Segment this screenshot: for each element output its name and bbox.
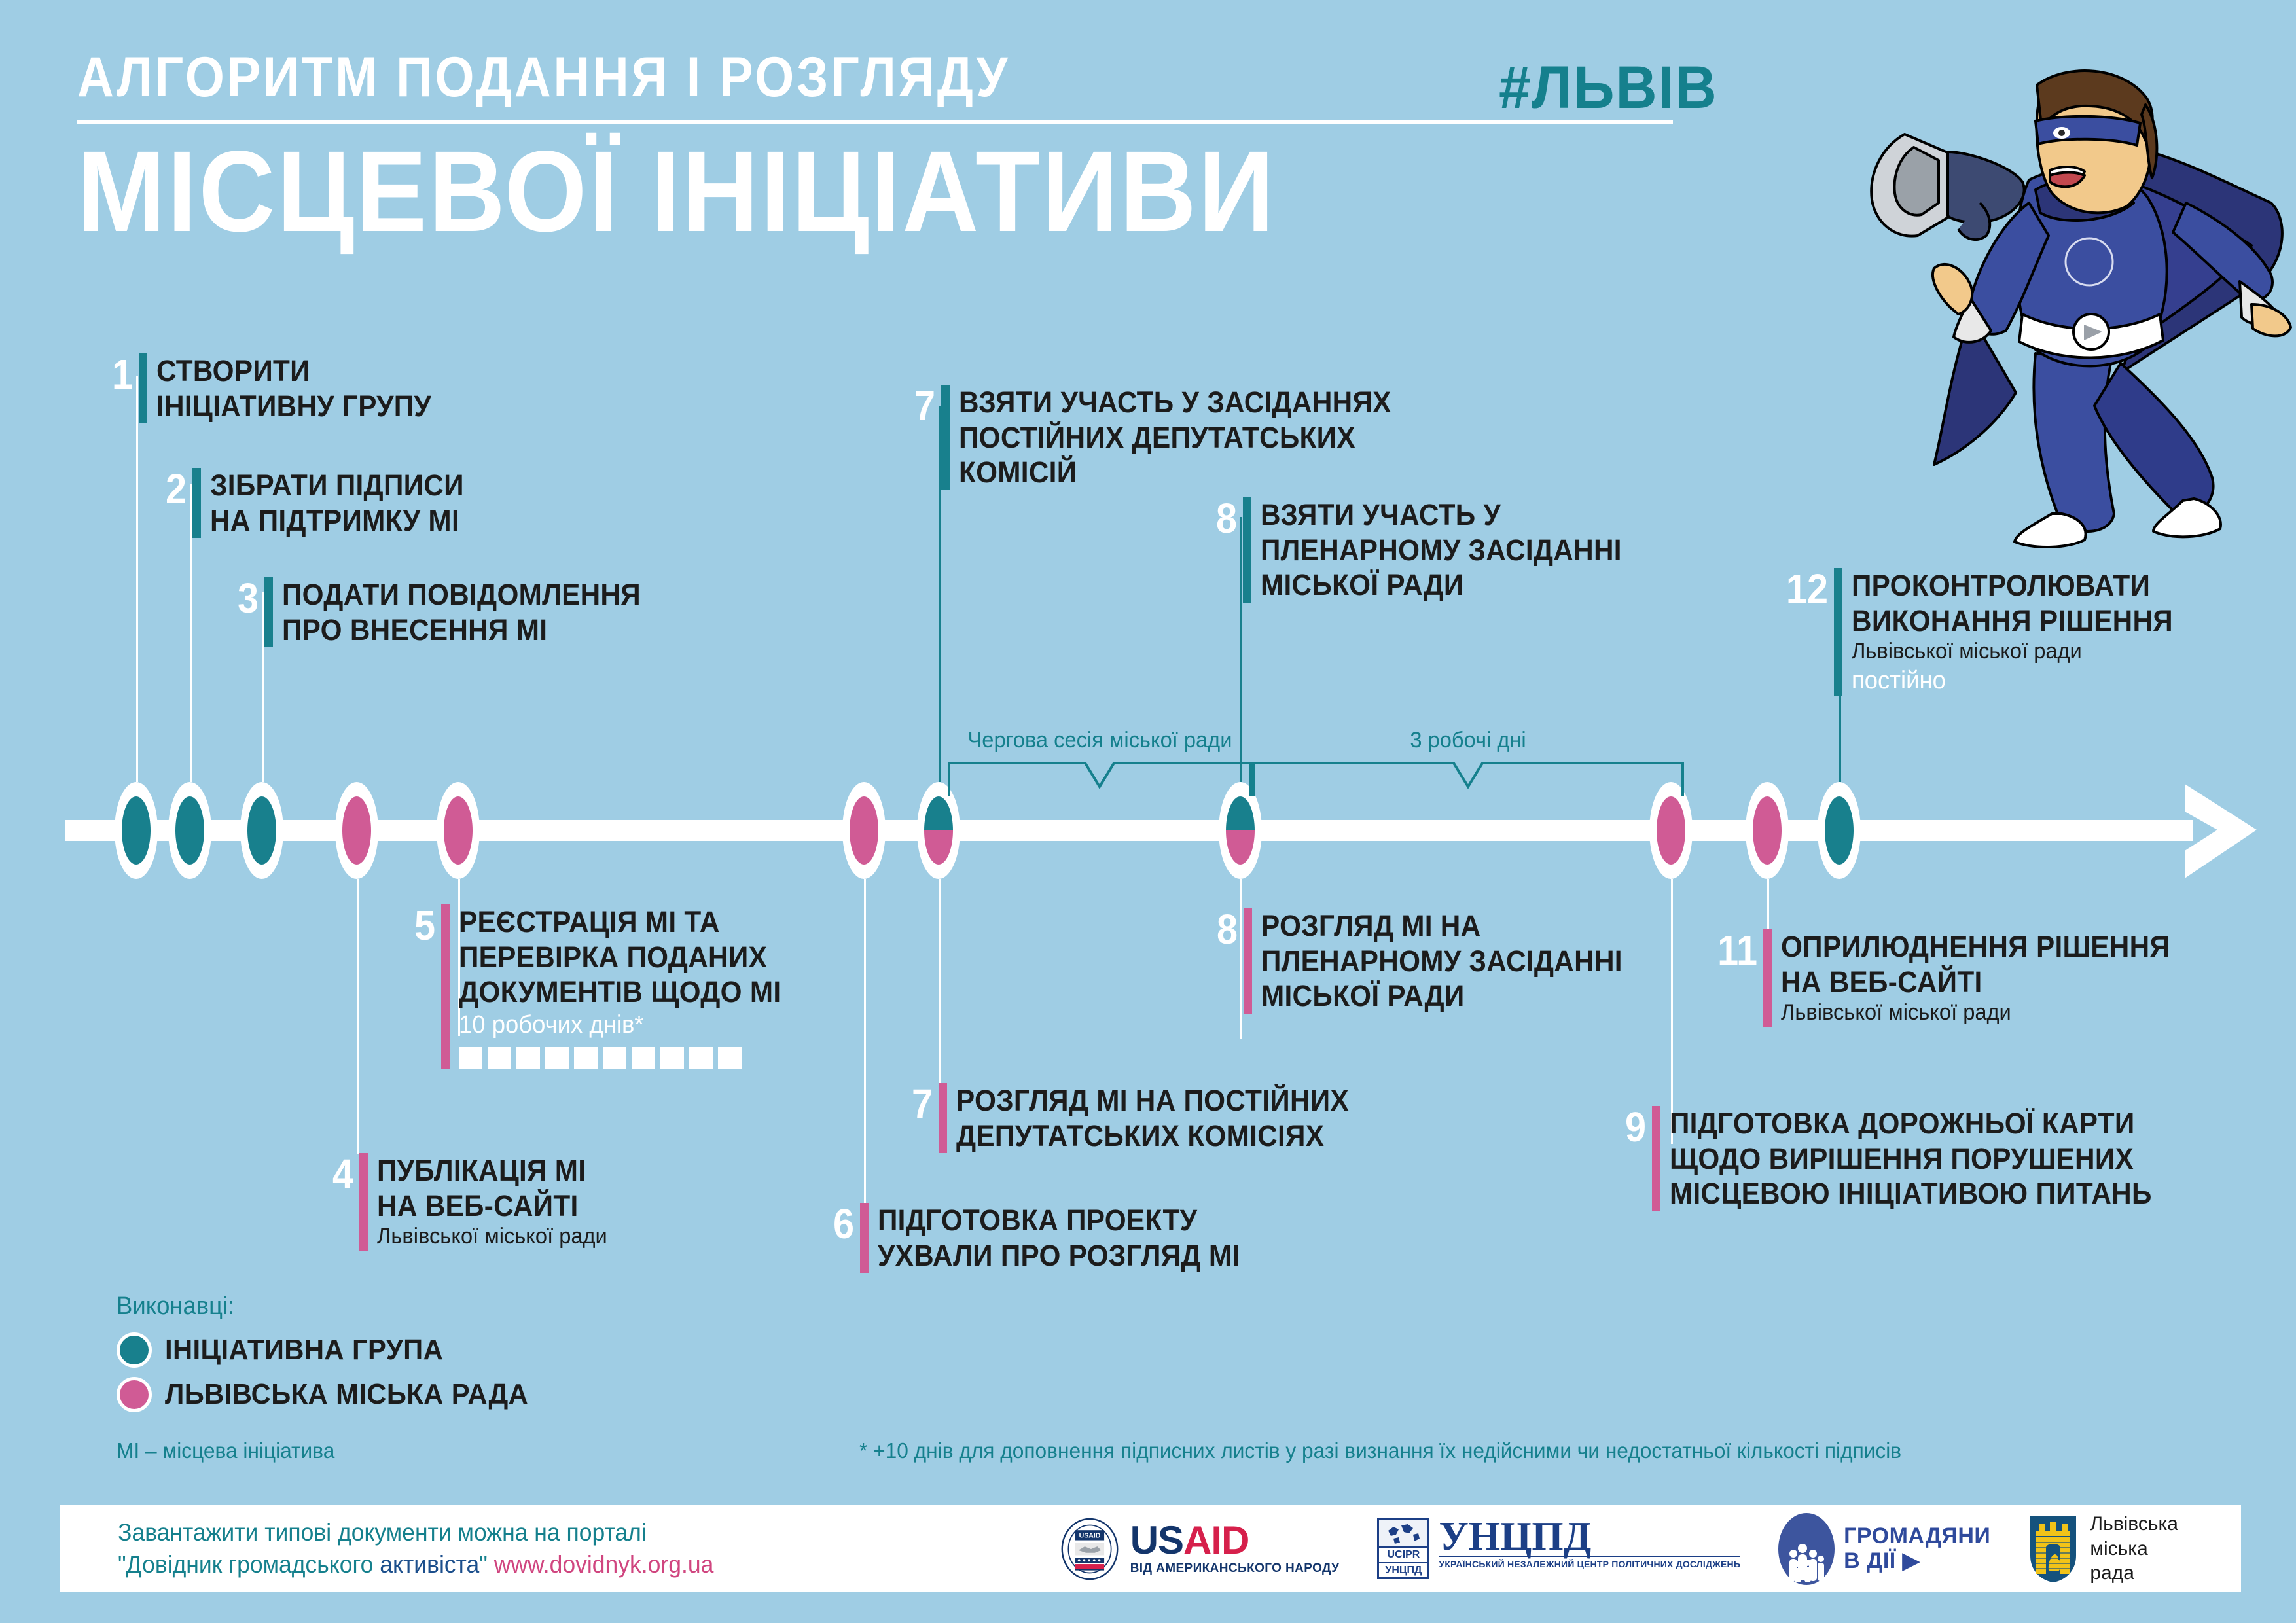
logo-usaid: USAID USAID ВІД АМЕРИКАНСЬКОГО НАРО xyxy=(1058,1518,1340,1580)
day-box xyxy=(718,1047,742,1069)
step-11: 11 ОПРИЛЮДНЕННЯ РІШЕННЯ НА ВЕБ-САЙТІ Льв… xyxy=(1696,929,2195,1027)
timeline-node-8[interactable] xyxy=(1219,782,1262,879)
step-5-line-2: ПЕРЕВІРКА ПОДАНИХ xyxy=(459,940,781,975)
header: АЛГОРИТМ ПОДАННЯ І РОЗГЛЯДУ МІСЦЕВОЇ ІНІ… xyxy=(77,49,1694,251)
step-6-accent-bar xyxy=(860,1203,869,1273)
legend-caption: Виконавці: xyxy=(117,1293,530,1321)
connector-1 xyxy=(136,376,138,782)
step-7-council: 7 РОЗГЛЯД МІ НА ПОСТІЙНИХ ДЕПУТАТСЬКИХ К… xyxy=(898,1083,1374,1153)
uncpd-abbr-ua: УНЦПД xyxy=(1379,1562,1427,1578)
timeline-node-7[interactable] xyxy=(917,782,960,879)
step-1-number: 1 xyxy=(102,353,139,423)
step-5-line-1: РЕЄСТРАЦІЯ МІ ТА xyxy=(459,904,781,940)
step-8b-number: 8 xyxy=(1207,908,1244,1014)
step-4-text: ПУБЛІКАЦІЯ МІ НА ВЕБ-САЙТІ Львівської мі… xyxy=(377,1153,617,1251)
step-7a-accent-bar xyxy=(941,385,950,490)
citizens-line-2: В ДІЇ ▶ xyxy=(1844,1549,1990,1573)
step-11-subtitle: Львівської міської ради xyxy=(1781,999,2178,1026)
usaid-word-us: US xyxy=(1130,1518,1183,1562)
uncpd-mark-icon: UCIPR УНЦПД xyxy=(1377,1518,1429,1579)
connector-6 xyxy=(864,879,866,1209)
step-2: 2 ЗІБРАТИ ПІДПИСИ НА ПІДТРИМКУ МІ xyxy=(152,468,480,538)
legend-item-initiative-group: ІНІЦІАТИВНА ГРУПА xyxy=(117,1332,547,1368)
footer-bar: Завантажити типові документи можна на по… xyxy=(60,1505,2241,1592)
step-4: 4 ПУБЛІКАЦІЯ МІ НА ВЕБ-САЙТІ Львівської … xyxy=(319,1153,617,1251)
footer-handbook-accent: активіста xyxy=(373,1551,479,1578)
lviv-council-line-3: рада xyxy=(2090,1561,2178,1586)
step-7b-number: 7 xyxy=(902,1083,939,1153)
step-4-line-1: ПУБЛІКАЦІЯ МІ xyxy=(377,1153,602,1188)
step-8a-line-3: МІСЬКОЇ РАДИ xyxy=(1261,567,1622,603)
step-7-initiative: 7 ВЗЯТИ УЧАСТЬ У ЗАСІДАННЯХ ПОСТІЙНИХ ДЕ… xyxy=(901,385,1419,490)
day-box xyxy=(516,1047,540,1069)
footer-quote-close: " xyxy=(479,1551,493,1578)
infographic-canvas: АЛГОРИТМ ПОДАННЯ І РОЗГЛЯДУ МІСЦЕВОЇ ІНІ… xyxy=(0,0,2296,1623)
legend-dot-teal-icon xyxy=(117,1332,152,1368)
citizens-crowd-icon xyxy=(1778,1513,1835,1585)
legend-item-city-council: ЛЬВІВСЬКА МІСЬКА РАДА xyxy=(117,1377,547,1412)
step-6-line-1: ПІДГОТОВКА ПРОЕКТУ xyxy=(878,1203,1240,1238)
step-7b-text: РОЗГЛЯД МІ НА ПОСТІЙНИХ ДЕПУТАТСЬКИХ КОМ… xyxy=(956,1083,1374,1153)
step-12-accent-bar xyxy=(1834,568,1842,696)
step-7b-line-1: РОЗГЛЯД МІ НА ПОСТІЙНИХ xyxy=(956,1083,1349,1118)
step-3-line-2: ПРО ВНЕСЕННЯ МІ xyxy=(282,613,641,648)
day-box xyxy=(574,1047,598,1069)
legend-label-initiative-group: ІНІЦІАТИВНА ГРУПА xyxy=(165,1334,443,1366)
footer-url-link[interactable]: www.dovidnyk.org.ua xyxy=(494,1551,714,1578)
step-3-text: ПОДАТИ ПОВІДОМЛЕННЯ ПРО ВНЕСЕННЯ МІ xyxy=(282,577,664,647)
step-7a-line-2: ПОСТІЙНИХ ДЕПУТАТСЬКИХ xyxy=(959,420,1391,455)
step-8b-line-1: РОЗГЛЯД МІ НА xyxy=(1261,908,1623,944)
legend-label-city-council: ЛЬВІВСЬКА МІСЬКА РАДА xyxy=(165,1378,528,1411)
step-2-number: 2 xyxy=(156,468,192,538)
usaid-wordmark: USAID ВІД АМЕРИКАНСЬКОГО НАРОДУ xyxy=(1130,1522,1340,1577)
lviv-council-wordmark: Львівська міська рада xyxy=(2090,1512,2178,1586)
lviv-council-line-2: міська xyxy=(2090,1537,2178,1561)
step-6-number: 6 xyxy=(823,1203,860,1273)
step-12-subtitle: Львівської міської ради xyxy=(1852,638,2179,665)
footer-text: Завантажити типові документи можна на по… xyxy=(118,1517,738,1581)
day-box xyxy=(603,1047,626,1069)
step-8b-text: РОЗГЛЯД МІ НА ПЛЕНАРНОМУ ЗАСІДАННІ МІСЬК… xyxy=(1261,908,1645,1014)
step-5-text: РЕЄСТРАЦІЯ МІ ТА ПЕРЕВІРКА ПОДАНИХ ДОКУМ… xyxy=(459,904,802,1069)
step-5-accent-bar xyxy=(441,904,450,1069)
step-5-duration-boxes xyxy=(459,1047,802,1069)
legend-dot-pink-icon xyxy=(117,1377,152,1412)
step-2-line-1: ЗІБРАТИ ПІДПИСИ xyxy=(210,468,464,503)
timeline-node-4[interactable] xyxy=(335,782,378,879)
timeline-node-2[interactable] xyxy=(168,782,211,879)
step-7a-number: 7 xyxy=(905,385,941,490)
step-4-number: 4 xyxy=(323,1153,359,1251)
step-1-line-1: СТВОРИТИ xyxy=(156,353,431,389)
legend: Виконавці: ІНІЦІАТИВНА ГРУПА ЛЬВІВСЬКА М… xyxy=(117,1293,547,1421)
step-12: 12 ПРОКОНТРОЛЮВАТИ ВИКОНАННЯ РІШЕННЯ Льв… xyxy=(1767,568,2193,696)
step-12-text: ПРОКОНТРОЛЮВАТИ ВИКОНАННЯ РІШЕННЯ Львівс… xyxy=(1852,568,2193,696)
logo-citizens-in-action: ГРОМАДЯНИ В ДІЇ ▶ xyxy=(1778,1513,1990,1585)
hashtag-lviv: #ЛЬВІВ xyxy=(1499,54,1718,122)
step-8-initiative: 8 ВЗЯТИ УЧАСТЬ У ПЛЕНАРНОМУ ЗАСІДАННІ МІ… xyxy=(1202,497,1645,603)
step-8a-text: ВЗЯТИ УЧАСТЬ У ПЛЕНАРНОМУ ЗАСІДАННІ МІСЬ… xyxy=(1261,497,1645,603)
timeline-arrow-icon xyxy=(2179,779,2265,883)
step-8a-accent-bar xyxy=(1243,497,1251,603)
step-7a-text: ВЗЯТИ УЧАСТЬ У ЗАСІДАННЯХ ПОСТІЙНИХ ДЕПУ… xyxy=(959,385,1419,490)
timeline-axis xyxy=(65,820,2193,841)
step-4-subtitle: Львівської міської ради xyxy=(377,1223,607,1250)
timeline-node-11[interactable] xyxy=(1746,782,1789,879)
step-6-line-2: УХВАЛИ ПРО РОЗГЛЯД МІ xyxy=(878,1238,1240,1274)
step-7b-line-2: ДЕПУТАТСЬКИХ КОМІСІЯХ xyxy=(956,1118,1349,1154)
day-box xyxy=(488,1047,511,1069)
usaid-word: USAID xyxy=(1130,1522,1340,1560)
step-7a-line-1: ВЗЯТИ УЧАСТЬ У ЗАСІДАННЯХ xyxy=(959,385,1391,420)
step-8a-line-1: ВЗЯТИ УЧАСТЬ У xyxy=(1261,497,1622,533)
step-3-line-1: ПОДАТИ ПОВІДОМЛЕННЯ xyxy=(282,577,641,613)
step-5-number: 5 xyxy=(404,904,441,1069)
step-9-text: ПІДГОТОВКА ДОРОЖНЬОЇ КАРТИ ЩОДО ВИРІШЕНН… xyxy=(1670,1106,2183,1211)
step-2-accent-bar xyxy=(192,468,201,538)
step-9: 9 ПІДГОТОВКА ДОРОЖНЬОЇ КАРТИ ЩОДО ВИРІШЕ… xyxy=(1611,1106,2183,1211)
step-1-line-2: ІНІЦІАТИВНУ ГРУПУ xyxy=(156,389,431,424)
step-1-accent-bar xyxy=(139,353,147,423)
lviv-coat-of-arms-icon xyxy=(2028,1514,2078,1584)
step-6: 6 ПІДГОТОВКА ПРОЕКТУ УХВАЛИ ПРО РОЗГЛЯД … xyxy=(819,1203,1263,1273)
step-7b-accent-bar xyxy=(939,1083,947,1153)
step-11-number: 11 xyxy=(1703,929,1763,1027)
connector-4 xyxy=(357,879,359,1154)
step-11-text: ОПРИЛЮДНЕННЯ РІШЕННЯ НА ВЕБ-САЙТІ Львівс… xyxy=(1781,929,2195,1027)
step-8a-line-2: ПЛЕНАРНОМУ ЗАСІДАННІ xyxy=(1261,533,1622,568)
step-12-line-2: ВИКОНАННЯ РІШЕННЯ xyxy=(1852,603,2173,639)
step-3-number: 3 xyxy=(228,577,264,647)
step-1-text: СТВОРИТИ ІНІЦІАТИВНУ ГРУПУ xyxy=(156,353,449,423)
step-2-text: ЗІБРАТИ ПІДПИСИ НА ПІДТРИМКУ МІ xyxy=(210,468,480,538)
superhero-mascot-icon xyxy=(1754,7,2296,550)
day-box xyxy=(632,1047,655,1069)
step-11-accent-bar xyxy=(1763,929,1772,1027)
step-4-line-2: НА ВЕБ-САЙТІ xyxy=(377,1188,602,1224)
citizens-line-1: ГРОМАДЯНИ xyxy=(1844,1524,1990,1548)
usaid-word-aid: AID xyxy=(1183,1518,1249,1562)
step-8b-line-2: ПЛЕНАРНОМУ ЗАСІДАННІ xyxy=(1261,944,1623,979)
step-9-line-2: ЩОДО ВИРІШЕННЯ ПОРУШЕНИХ xyxy=(1670,1141,2152,1177)
title-divider xyxy=(77,120,1673,124)
step-12-line-1: ПРОКОНТРОЛЮВАТИ xyxy=(1852,568,2173,603)
footer-handbook-title: "Довідник громадського xyxy=(118,1551,373,1578)
step-11-line-2: НА ВЕБ-САЙТІ xyxy=(1781,965,2170,1000)
page-title-line2: МІСЦЕВОЇ ІНІЦІАТИВИ xyxy=(77,134,1564,251)
abbreviation-note: МІ – місцева ініціатива xyxy=(117,1438,334,1463)
day-box xyxy=(689,1047,713,1069)
step-4-accent-bar xyxy=(359,1153,368,1251)
timeline-node-12[interactable] xyxy=(1818,782,1861,879)
timeline-node-1[interactable] xyxy=(115,782,158,879)
step-9-accent-bar xyxy=(1652,1106,1660,1211)
step-9-line-1: ПІДГОТОВКА ДОРОЖНЬОЇ КАРТИ xyxy=(1670,1106,2152,1141)
step-11-line-1: ОПРИЛЮДНЕННЯ РІШЕННЯ xyxy=(1781,929,2170,965)
logo-uncpd: UCIPR УНЦПД УНЦПД УКРАЇНСЬКИЙ НЕЗАЛЕЖНИЙ… xyxy=(1377,1518,1740,1579)
step-2-line-2: НА ПІДТРИМКУ МІ xyxy=(210,503,464,539)
play-triangle-icon: ▶ xyxy=(1903,1548,1920,1573)
uncpd-abbr-en: UCIPR xyxy=(1379,1546,1427,1562)
logo-lviv-city-council: Львівська міська рада xyxy=(2028,1512,2178,1586)
footer-line-1: Завантажити типові документи можна на по… xyxy=(118,1517,713,1549)
footer-logos: USAID USAID ВІД АМЕРИКАНСЬКОГО НАРО xyxy=(1058,1512,2241,1586)
step-5: 5 РЕЄСТРАЦІЯ МІ ТА ПЕРЕВІРКА ПОДАНИХ ДОК… xyxy=(401,904,802,1069)
step-8-council: 8 РОЗГЛЯД МІ НА ПЛЕНАРНОМУ ЗАСІДАННІ МІС… xyxy=(1203,908,1645,1014)
step-3: 3 ПОДАТИ ПОВІДОМЛЕННЯ ПРО ВНЕСЕННЯ МІ xyxy=(224,577,664,647)
step-12-number: 12 xyxy=(1774,568,1834,696)
step-9-number: 9 xyxy=(1615,1106,1652,1211)
step-8b-accent-bar xyxy=(1244,908,1252,1014)
step-3-accent-bar xyxy=(264,577,273,647)
footer-line-2: "Довідник громадського активіста" www.do… xyxy=(118,1549,713,1581)
step-7a-line-3: КОМІСІЙ xyxy=(959,455,1391,490)
connector-9 xyxy=(1671,879,1673,1144)
step-5-line-3: ДОКУМЕНТІВ ЩОДО МІ xyxy=(459,974,781,1010)
step-6-text: ПІДГОТОВКА ПРОЕКТУ УХВАЛИ ПРО РОЗГЛЯД МІ xyxy=(878,1203,1263,1273)
step-12-duration: постійно xyxy=(1852,666,2179,697)
step-9-line-3: МІСЦЕВОЮ ІНІЦІАТИВОЮ ПИТАНЬ xyxy=(1670,1176,2152,1211)
step-5-duration: 10 робочих днів* xyxy=(459,1010,788,1041)
usaid-seal-icon: USAID xyxy=(1058,1518,1121,1580)
step-8b-line-3: МІСЬКОЇ РАДИ xyxy=(1261,978,1623,1014)
citizens-wordmark: ГРОМАДЯНИ В ДІЇ ▶ xyxy=(1844,1524,1990,1573)
usaid-tagline: ВІД АМЕРИКАНСЬКОГО НАРОДУ xyxy=(1130,1561,1340,1576)
uncpd-world-map-icon xyxy=(1379,1520,1427,1546)
day-box xyxy=(660,1047,684,1069)
day-box xyxy=(545,1047,569,1069)
svg-text:USAID: USAID xyxy=(1079,1531,1100,1539)
footnote: * +10 днів для доповнення підписних лист… xyxy=(859,1438,1901,1463)
timeline-node-5[interactable] xyxy=(437,782,480,879)
step-1: 1 СТВОРИТИ ІНІЦІАТИВНУ ГРУПУ xyxy=(98,353,449,423)
timeline-node-9[interactable] xyxy=(1649,782,1693,879)
timeline-node-6[interactable] xyxy=(842,782,886,879)
uncpd-word: УНЦПД xyxy=(1439,1518,1740,1556)
lviv-council-line-1: Львівська xyxy=(2090,1512,2178,1537)
step-8a-number: 8 xyxy=(1206,497,1243,603)
day-box xyxy=(459,1047,482,1069)
timeline-node-3[interactable] xyxy=(240,782,283,879)
page-title-line1: АЛГОРИТМ ПОДАННЯ І РОЗГЛЯДУ xyxy=(77,49,1532,105)
